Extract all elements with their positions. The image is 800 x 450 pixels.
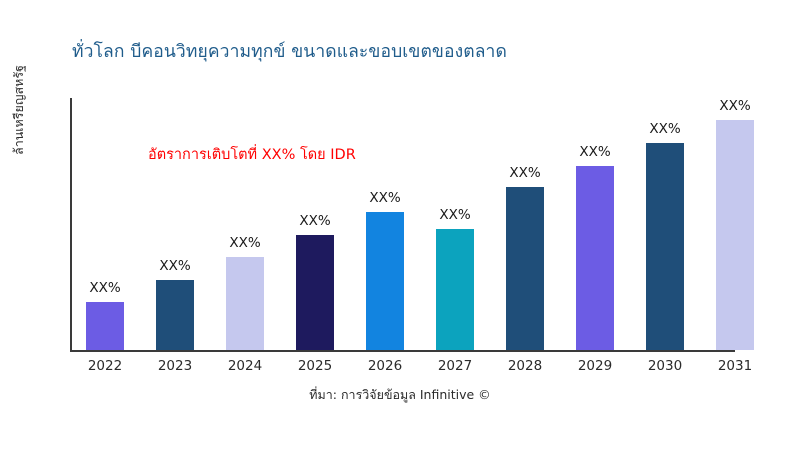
bar-rect[interactable] [226, 257, 264, 350]
x-axis-tick-label: 2025 [298, 358, 332, 374]
bar-value-label: XX% [229, 235, 260, 251]
bar-chart-figure: ทั่วโลก บีคอนวิทยุความทุกข์ ขนาดและขอบเข… [0, 0, 800, 450]
bar-rect[interactable] [716, 120, 754, 350]
bar-rect[interactable] [646, 143, 684, 350]
x-axis-tick-label: 2026 [368, 358, 402, 374]
x-axis-tick-label: 2024 [228, 358, 262, 374]
bar-value-label: XX% [439, 207, 470, 223]
bars-layer: XX%2022XX%2023XX%2024XX%2025XX%2026XX%20… [0, 0, 800, 450]
bar-rect[interactable] [506, 187, 544, 350]
bar-rect[interactable] [576, 166, 614, 350]
bar-rect[interactable] [366, 212, 404, 350]
bar-value-label: XX% [649, 121, 680, 137]
bar-value-label: XX% [579, 144, 610, 160]
bar-rect[interactable] [156, 280, 194, 350]
bar-value-label: XX% [159, 258, 190, 274]
bar-column[interactable]: XX% [296, 0, 334, 350]
bar-value-label: XX% [369, 190, 400, 206]
bar-rect[interactable] [436, 229, 474, 350]
bar-rect[interactable] [86, 302, 124, 350]
bar-column[interactable]: XX% [576, 0, 614, 350]
bar-column[interactable]: XX% [716, 0, 754, 350]
bar-column[interactable]: XX% [86, 0, 124, 350]
x-axis-tick-label: 2028 [508, 358, 542, 374]
bar-column[interactable]: XX% [366, 0, 404, 350]
x-axis-tick-label: 2029 [578, 358, 612, 374]
bar-column[interactable]: XX% [156, 0, 194, 350]
x-axis-tick-label: 2027 [438, 358, 472, 374]
bar-column[interactable]: XX% [436, 0, 474, 350]
bar-value-label: XX% [89, 280, 120, 296]
bar-rect[interactable] [296, 235, 334, 350]
bar-column[interactable]: XX% [506, 0, 544, 350]
bar-value-label: XX% [719, 98, 750, 114]
x-axis-tick-label: 2030 [648, 358, 682, 374]
x-axis-tick-label: 2031 [718, 358, 752, 374]
bar-value-label: XX% [509, 165, 540, 181]
bar-column[interactable]: XX% [646, 0, 684, 350]
bar-column[interactable]: XX% [226, 0, 264, 350]
source-note: ที่มา: การวิจัยข้อมูล Infinitive © [0, 385, 800, 405]
x-axis-tick-label: 2022 [88, 358, 122, 374]
bar-value-label: XX% [299, 213, 330, 229]
x-axis-tick-label: 2023 [158, 358, 192, 374]
